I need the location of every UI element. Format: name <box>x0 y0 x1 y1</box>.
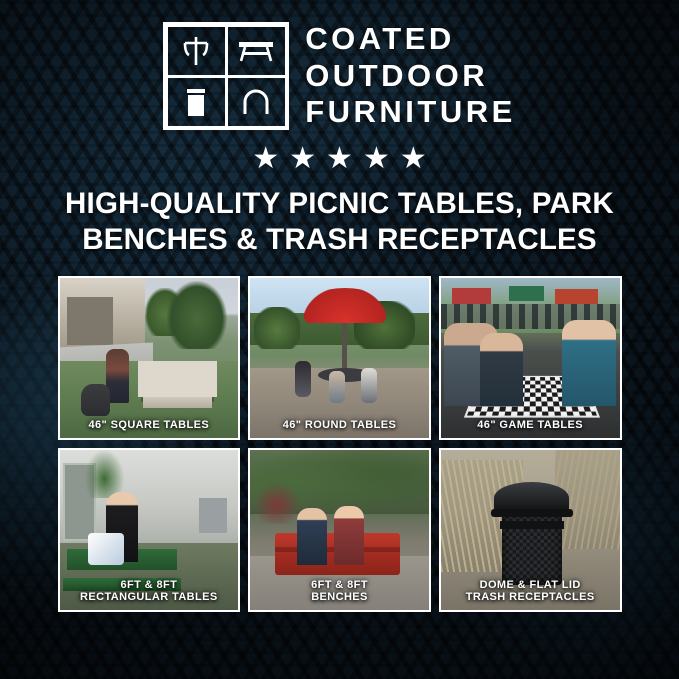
product-caption-line-1: 46" SQUARE TABLES <box>64 419 235 432</box>
headline-line-2: BENCHES & TRASH RECEPTACLES <box>40 222 640 258</box>
product-caption: 46" ROUND TABLES <box>250 419 429 432</box>
brand-name-line-1: COATED <box>305 22 516 57</box>
product-caption: 46" SQUARE TABLES <box>60 419 239 432</box>
product-banner: COATED OUTDOOR FURNITURE ★ ★ ★ ★ ★ HIGH-… <box>0 0 679 679</box>
product-caption: 46" GAME TABLES <box>441 419 620 432</box>
product-caption-line-1: 6FT & 8FT <box>64 579 235 592</box>
round-tables-photo <box>250 278 429 438</box>
brand-logo: COATED OUTDOOR FURNITURE <box>163 22 516 130</box>
headline: HIGH-QUALITY PICNIC TABLES, PARK BENCHES… <box>40 186 640 258</box>
product-tile-rectangular-tables: 6FT & 8FT RECTANGULAR TABLES <box>58 448 241 612</box>
logo-cell-picnic-table-icon <box>225 24 288 78</box>
product-grid: 46" SQUARE TABLES 46" ROUND TABLES <box>58 276 622 612</box>
star-icon: ★ <box>326 144 353 174</box>
star-icon: ★ <box>400 144 427 174</box>
product-caption-line-1: 46" ROUND TABLES <box>254 419 425 432</box>
logo-cell-dome-receptacle-icon <box>225 75 288 129</box>
product-caption-line-2: TRASH RECEPTACLES <box>445 591 616 604</box>
star-icon: ★ <box>289 144 316 174</box>
product-caption-line-1: DOME & FLAT LID <box>445 579 616 592</box>
star-rating: ★ ★ ★ ★ ★ <box>252 144 427 174</box>
logo-cell-umbrella-table-icon <box>165 24 228 78</box>
headline-line-1: HIGH-QUALITY PICNIC TABLES, PARK <box>40 186 640 222</box>
product-caption: 6FT & 8FT RECTANGULAR TABLES <box>60 579 239 604</box>
product-tile-game-tables: 46" GAME TABLES <box>439 276 622 440</box>
product-caption-line-1: 46" GAME TABLES <box>445 419 616 432</box>
brand-wordmark: COATED OUTDOOR FURNITURE <box>305 22 516 130</box>
product-tile-round-tables: 46" ROUND TABLES <box>248 276 431 440</box>
product-tile-benches: 6FT & 8FT BENCHES <box>248 448 431 612</box>
product-caption: DOME & FLAT LID TRASH RECEPTACLES <box>441 579 620 604</box>
square-tables-photo <box>60 278 239 438</box>
product-caption-line-2: RECTANGULAR TABLES <box>64 591 235 604</box>
product-caption: 6FT & 8FT BENCHES <box>250 579 429 604</box>
brand-name-line-2: OUTDOOR <box>305 59 516 94</box>
star-icon: ★ <box>252 144 279 174</box>
product-tile-trash-receptacles: DOME & FLAT LID TRASH RECEPTACLES <box>439 448 622 612</box>
star-icon: ★ <box>363 144 390 174</box>
game-tables-photo <box>441 278 620 438</box>
brand-name-line-3: FURNITURE <box>305 95 516 130</box>
product-tile-square-tables: 46" SQUARE TABLES <box>58 276 241 440</box>
logo-cell-trash-can-icon <box>165 75 228 129</box>
product-caption-line-1: 6FT & 8FT <box>254 579 425 592</box>
product-caption-line-2: BENCHES <box>254 591 425 604</box>
picnic-table-and-trash-can-logo-icon <box>163 22 289 130</box>
